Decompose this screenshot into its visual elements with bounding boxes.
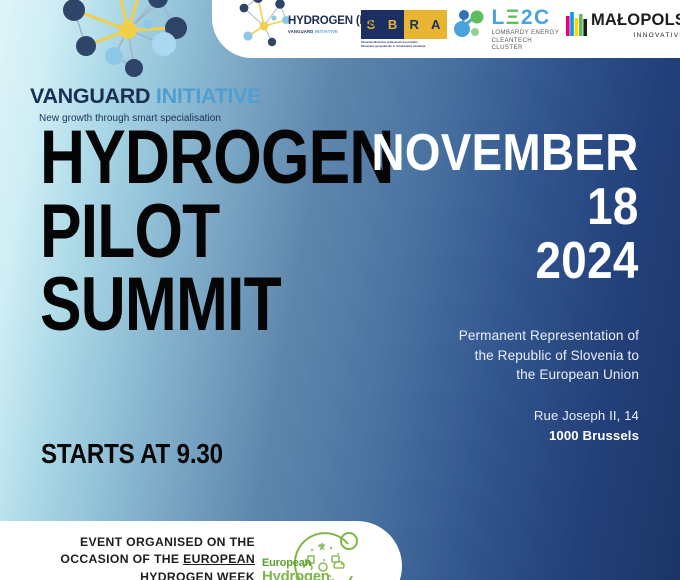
footer-line-2-plain: OCCASION OF THE	[60, 552, 183, 566]
malopolska-subtitle: INNOVATIVE	[591, 32, 680, 39]
hydrogen-logo-title: HYDROGEN (H₂)	[288, 16, 376, 28]
sbra-letter-a: A	[431, 17, 441, 32]
logo-malopolska: MAŁOPOLSKA INNOVATIVE	[562, 0, 680, 58]
event-date: NOVEMBER 18 2024	[335, 126, 639, 288]
logo-vanguard-initiative: VANGUARD INITIATIVE New growth through s…	[30, 0, 230, 124]
cleantech-molecule-icon	[451, 8, 491, 42]
hydrogen-logo-sub-initiative: INITIATIVE	[315, 29, 338, 34]
venue-line-1: Permanent Representation of	[339, 326, 639, 346]
venue-address: Rue Joseph II, 14 1000 Brussels	[339, 406, 639, 446]
venue-city: 1000 Brussels	[339, 426, 639, 446]
venue-line-2: the Republic of Slovenia to	[339, 346, 639, 366]
venue-line-3: the European Union	[339, 365, 639, 385]
le2c-subtitle: LOMBARDY ENERGY CLEANTECH CLUSTER	[491, 29, 562, 52]
le2c-wordmark: LΞ2C	[491, 8, 562, 28]
le2c-subtitle-line2: CLEANTECH CLUSTER	[491, 37, 562, 53]
logo-european-hydrogen-week: European Hydrogen	[262, 528, 386, 580]
footer-line-2-underline: EUROPEAN	[183, 552, 255, 566]
venue-street: Rue Joseph II, 14	[339, 406, 639, 426]
date-day: 18	[372, 180, 639, 234]
partner-logo-banner: HYDROGEN (H₂) VANGUARD INITIATIVE S B R …	[212, 0, 680, 58]
vanguard-network-icon	[30, 0, 230, 84]
malopolska-m-icon	[566, 12, 588, 36]
sbra-tagline-sl: Slovensko gospodarsko in raziskovalno zd…	[361, 45, 447, 49]
logo-hydrogen-vanguard: HYDROGEN (H₂) VANGUARD INITIATIVE	[226, 0, 357, 58]
sbra-letter-r: R	[409, 17, 419, 32]
date-year: 2024	[372, 234, 639, 288]
le2c-letter-l: L	[491, 6, 505, 29]
footer-line-1: EVENT ORGANISED ON THE	[40, 534, 255, 551]
footer-text: EVENT ORGANISED ON THE OCCASION OF THE E…	[40, 534, 255, 580]
malopolska-wordmark: MAŁOPOLSKA	[591, 12, 680, 29]
hydrogen-logo-sub-vanguard: VANGUARD	[288, 29, 315, 34]
date-month: NOVEMBER	[372, 126, 639, 180]
sbra-tagline: Slovenian Business & Research Associatio…	[361, 41, 447, 49]
sbra-block-gold: R A	[404, 10, 447, 39]
footer-line-3: HYDROGEN WEEK	[40, 569, 255, 580]
event-poster: HYDROGEN (H₂) VANGUARD INITIATIVE S B R …	[0, 0, 680, 580]
le2c-letter-e: Ξ	[506, 6, 521, 29]
ehw-text-hydrogen: Hydrogen	[262, 569, 330, 580]
start-time-label: STARTS AT 9.30	[41, 438, 223, 470]
le2c-subtitle-line1: LOMBARDY ENERGY	[491, 29, 562, 37]
le2c-letter-2c: 2C	[521, 6, 551, 29]
vanguard-wordmark: VANGUARD INITIATIVE	[30, 86, 230, 108]
vanguard-word: VANGUARD	[30, 84, 150, 108]
footer-line-2: OCCASION OF THE EUROPEAN	[40, 551, 255, 568]
sbra-letter-b: B	[388, 17, 398, 32]
initiative-word: INITIATIVE	[156, 84, 261, 108]
venue-block: Permanent Representation of the Republic…	[339, 326, 639, 446]
logo-le2c: LΞ2C LOMBARDY ENERGY CLEANTECH CLUSTER	[449, 0, 562, 58]
